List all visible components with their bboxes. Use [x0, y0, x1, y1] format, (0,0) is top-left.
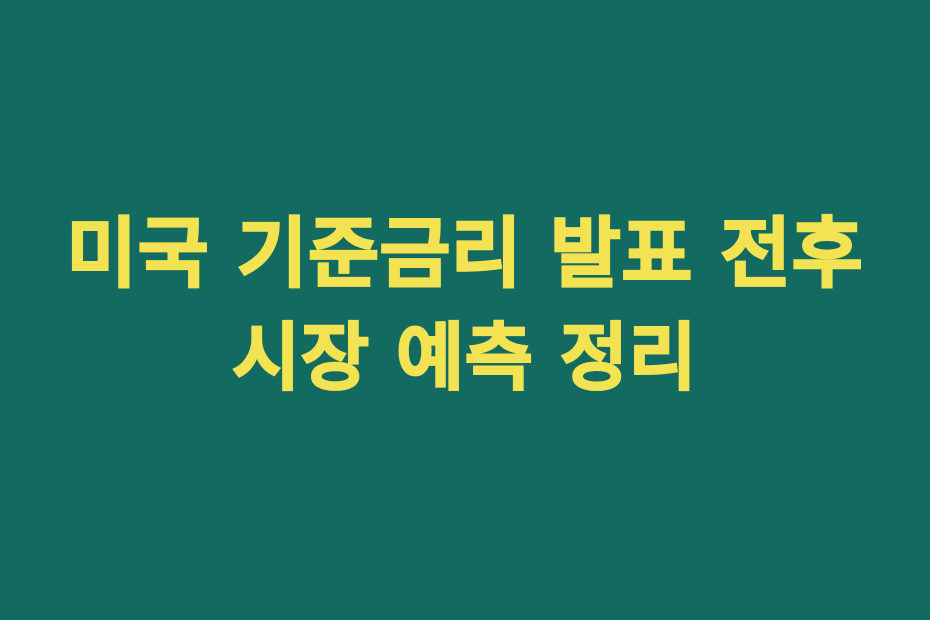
headline-line-1: 미국 기준금리 발표 전후 [0, 202, 930, 308]
title-card: 미국 기준금리 발표 전후 시장 예측 정리 [0, 0, 930, 620]
headline-line-2: 시장 예측 정리 [0, 308, 930, 409]
headline-block: 미국 기준금리 발표 전후 시장 예측 정리 [0, 202, 930, 409]
